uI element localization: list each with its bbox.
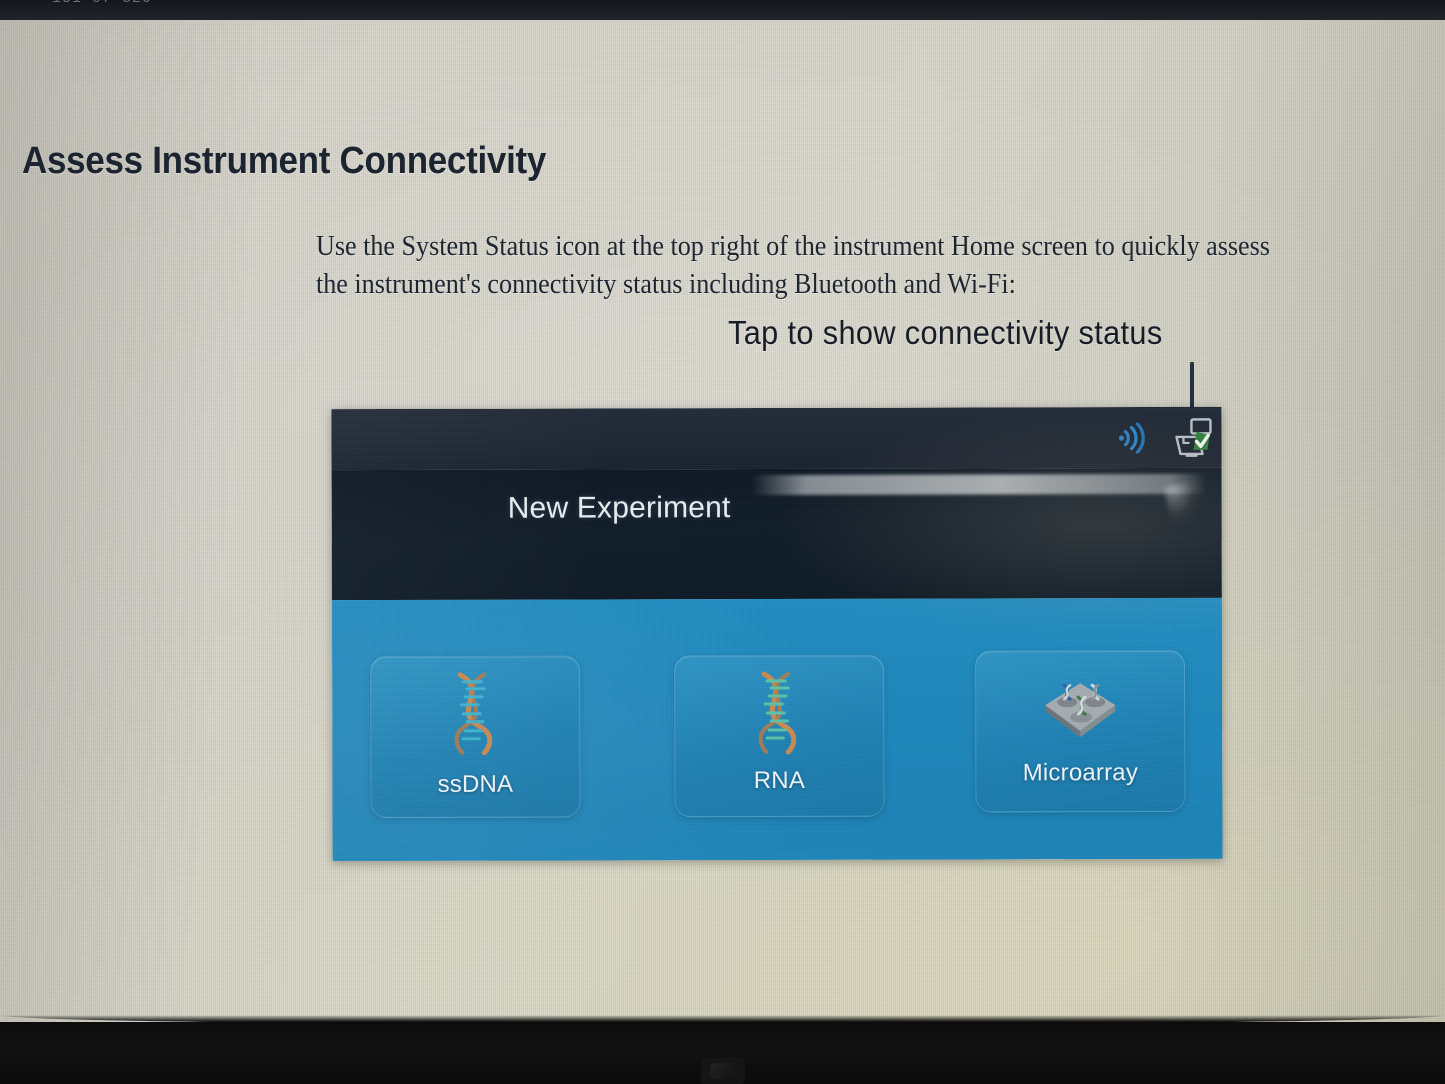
monitor-brand-logo (701, 1058, 745, 1084)
screenshot-photo: 151 of 320 Assess Instrument Connectivit… (0, 0, 1445, 1084)
instrument-app-header: New Experiment Proteins OD600 Custom Kin… (332, 468, 1222, 600)
instrument-app-body: ssDNA (332, 598, 1223, 861)
instrument-status-bar (331, 407, 1221, 470)
instrument-screenshot: New Experiment Proteins OD600 Custom Kin… (331, 407, 1222, 861)
tile-label-microarray: Microarray (976, 759, 1184, 788)
app-title: New Experiment (508, 491, 731, 526)
tile-microarray[interactable]: Microarray (975, 650, 1185, 813)
assay-tile-grid: ssDNA (332, 598, 1223, 861)
screen-glare-streak (752, 474, 1207, 495)
system-status-icon[interactable] (1171, 416, 1215, 458)
dna-helix-icon (432, 667, 518, 759)
body-line-1: Use the System Status icon at the top ri… (316, 230, 1270, 262)
wifi-icon[interactable] (1113, 421, 1153, 455)
body-line-2: the instrument's connectivity status inc… (316, 266, 1302, 304)
monitor-bezel-top: 151 of 320 (0, 0, 1445, 22)
tile-ssdna[interactable]: ssDNA (370, 656, 580, 819)
microarray-chip-icon (1037, 661, 1123, 753)
tile-label-ssdna: ssDNA (371, 771, 579, 800)
tile-rna[interactable]: RNA (674, 655, 884, 818)
status-bar-icon-group (1113, 407, 1215, 468)
page-title: Assess Instrument Connectivity (22, 140, 546, 183)
page-indicator: 151 of 320 (52, 0, 152, 7)
screen-glare-spot (1164, 478, 1218, 531)
rna-helix-icon (736, 666, 822, 758)
slide-surface: Assess Instrument Connectivity Use the S… (0, 20, 1445, 1026)
body-paragraph: Use the System Status icon at the top ri… (316, 228, 1302, 303)
callout-label: Tap to show connectivity status (728, 314, 1163, 352)
monitor-bezel-bottom (0, 1022, 1445, 1084)
tile-label-rna: RNA (675, 767, 883, 796)
